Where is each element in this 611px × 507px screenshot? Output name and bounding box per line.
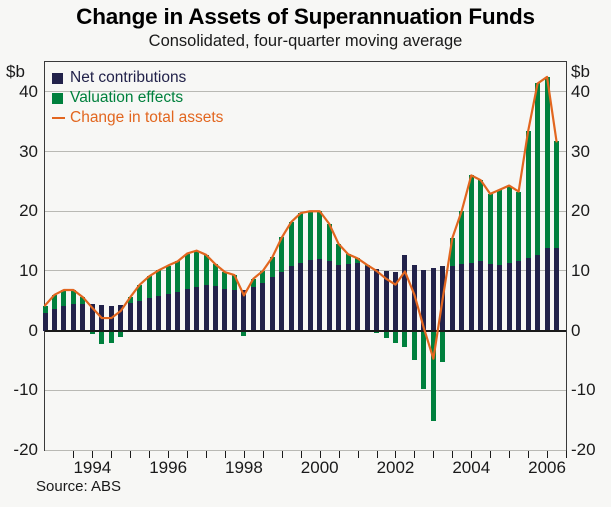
bar-valuation-effects	[327, 224, 332, 262]
bar-net-contributions	[554, 248, 559, 330]
bar-net-contributions	[355, 263, 360, 330]
bar-valuation-effects	[516, 192, 521, 261]
bar-valuation-effects	[440, 331, 445, 363]
bar-valuation-effects	[52, 295, 57, 309]
bar-valuation-effects	[185, 254, 190, 290]
x-axis-tick	[282, 451, 283, 458]
bar-valuation-effects	[488, 194, 493, 264]
legend-item-change-total-assets: Change in total assets	[52, 108, 223, 128]
x-axis-tick-label: 2000	[301, 458, 339, 478]
legend-label-net-contributions: Net contributions	[70, 68, 186, 88]
bar-net-contributions	[137, 301, 142, 331]
y-axis-unit-right: $b	[571, 62, 590, 82]
y-axis-tick-label: 40	[0, 83, 38, 100]
bar-valuation-effects	[204, 255, 209, 285]
bar-valuation-effects	[526, 131, 531, 258]
x-axis-tick	[92, 451, 93, 458]
bar-net-contributions	[61, 306, 66, 330]
bar-net-contributions	[535, 255, 540, 330]
bar-valuation-effects	[308, 211, 313, 260]
bar-net-contributions	[450, 266, 455, 331]
x-axis-tick	[206, 451, 207, 458]
bar-net-contributions	[374, 269, 379, 331]
bar-valuation-effects	[156, 270, 161, 296]
legend-dash-change-total-assets	[52, 117, 65, 120]
bar-net-contributions	[327, 261, 332, 330]
bar-net-contributions	[128, 303, 133, 330]
bar-valuation-effects	[507, 186, 512, 264]
y-axis-tick-label: -10	[0, 381, 38, 398]
bar-valuation-effects	[298, 213, 303, 263]
x-axis-tick	[452, 451, 453, 458]
bar-net-contributions	[43, 313, 48, 331]
bar-net-contributions	[393, 272, 398, 330]
legend-label-change-total-assets: Change in total assets	[70, 108, 223, 128]
x-axis-tick	[339, 451, 340, 458]
bar-valuation-effects	[336, 244, 341, 265]
source-note: Source: ABS	[36, 478, 121, 495]
bar-net-contributions	[52, 309, 57, 330]
x-axis-tick	[414, 451, 415, 458]
bar-net-contributions	[317, 259, 322, 331]
bar-net-contributions	[298, 263, 303, 331]
bar-net-contributions	[279, 272, 284, 331]
x-axis-tick-label: 1994	[73, 458, 111, 478]
bar-net-contributions	[90, 304, 95, 330]
bar-valuation-effects	[431, 331, 436, 422]
gridline	[45, 450, 566, 451]
bar-valuation-effects	[554, 141, 559, 248]
y-axis-tick-label: 10	[0, 262, 38, 279]
x-axis-tick-label: 2006	[528, 458, 566, 478]
bar-valuation-effects	[355, 258, 360, 263]
gridline	[45, 151, 566, 152]
bar-net-contributions	[469, 263, 474, 330]
x-axis-tick	[433, 451, 434, 458]
bar-net-contributions	[99, 305, 104, 331]
x-axis-tick	[320, 451, 321, 458]
y-axis-tick-label: 30	[0, 143, 38, 160]
bar-net-contributions	[232, 290, 237, 331]
x-axis-tick-label: 2004	[452, 458, 490, 478]
bar-valuation-effects	[61, 290, 66, 306]
bar-valuation-effects	[346, 254, 351, 264]
x-axis-tick	[130, 451, 131, 458]
bar-valuation-effects	[535, 83, 540, 255]
bar-net-contributions	[80, 304, 85, 331]
x-axis-tick	[73, 451, 74, 458]
bar-net-contributions	[260, 283, 265, 331]
x-axis-tick	[509, 451, 510, 458]
bar-valuation-effects	[459, 211, 464, 265]
chart-subtitle: Consolidated, four-quarter moving averag…	[0, 32, 611, 51]
bar-valuation-effects	[213, 264, 218, 286]
x-axis-tick-label: 1996	[149, 458, 187, 478]
x-axis-tick	[547, 451, 548, 458]
bar-net-contributions	[459, 264, 464, 330]
bar-valuation-effects	[166, 266, 171, 295]
bar-net-contributions	[308, 260, 313, 330]
bar-net-contributions	[270, 277, 275, 330]
bar-net-contributions	[213, 286, 218, 330]
bar-net-contributions	[251, 287, 256, 331]
bar-valuation-effects	[71, 290, 76, 304]
bar-net-contributions	[147, 298, 152, 330]
x-axis-tick	[490, 451, 491, 458]
bar-net-contributions	[166, 294, 171, 330]
legend-label-valuation-effects: Valuation effects	[70, 88, 183, 108]
bar-valuation-effects	[137, 285, 142, 301]
bar-net-contributions	[440, 266, 445, 330]
x-axis-tick-label: 2002	[377, 458, 415, 478]
y-axis-tick-label: -20	[571, 441, 596, 458]
bar-net-contributions	[488, 264, 493, 331]
bar-net-contributions	[421, 270, 426, 330]
legend-item-valuation-effects: Valuation effects	[52, 88, 223, 108]
x-axis-tick-label: 1998	[225, 458, 263, 478]
bar-valuation-effects	[412, 331, 417, 361]
bar-net-contributions	[497, 265, 502, 331]
bar-net-contributions	[431, 268, 436, 331]
bar-net-contributions	[402, 255, 407, 331]
gridline	[45, 390, 566, 391]
y-axis-tick-label: 20	[571, 202, 590, 219]
y-axis-tick-label: -10	[571, 381, 596, 398]
bar-valuation-effects	[402, 331, 407, 348]
y-axis-tick-label: 40	[571, 83, 590, 100]
bar-valuation-effects	[421, 331, 426, 389]
bar-valuation-effects	[450, 238, 455, 265]
chart-legend: Net contributions Valuation effects Chan…	[52, 68, 223, 128]
bar-net-contributions	[336, 265, 341, 331]
bar-net-contributions	[241, 290, 246, 331]
bar-valuation-effects	[80, 297, 85, 304]
bar-net-contributions	[516, 261, 521, 331]
x-axis-tick	[377, 451, 378, 458]
bar-net-contributions	[346, 264, 351, 331]
zero-axis-line	[45, 330, 566, 332]
bar-net-contributions	[118, 305, 123, 331]
x-axis-tick	[528, 451, 529, 458]
bar-net-contributions	[204, 285, 209, 330]
bar-valuation-effects	[545, 77, 550, 248]
y-axis-tick-label: 10	[571, 262, 590, 279]
bar-net-contributions	[109, 306, 114, 331]
bar-net-contributions	[412, 265, 417, 331]
x-axis-tick	[187, 451, 188, 458]
page-title: Change in Assets of Superannuation Funds	[0, 4, 611, 30]
y-axis-tick-label: 20	[0, 202, 38, 219]
bar-net-contributions	[289, 266, 294, 330]
bar-valuation-effects	[251, 279, 256, 287]
bar-valuation-effects	[222, 272, 227, 289]
chart-root: Change in Assets of Superannuation Funds…	[0, 0, 611, 507]
bar-valuation-effects	[270, 257, 275, 277]
bar-valuation-effects	[128, 297, 133, 303]
bar-valuation-effects	[175, 261, 180, 291]
bar-net-contributions	[507, 263, 512, 330]
bar-valuation-effects	[317, 211, 322, 259]
bar-valuation-effects	[232, 275, 237, 290]
x-axis-tick	[471, 451, 472, 458]
bar-valuation-effects	[43, 306, 48, 313]
bar-valuation-effects	[109, 331, 114, 344]
bar-valuation-effects	[194, 251, 199, 287]
y-axis-tick-label: 0	[0, 322, 38, 339]
y-axis-tick-label: 30	[571, 143, 590, 160]
y-axis-tick-label: -20	[0, 441, 38, 458]
bar-valuation-effects	[260, 271, 265, 283]
x-axis-tick	[301, 451, 302, 458]
bar-net-contributions	[185, 289, 190, 330]
bar-valuation-effects	[384, 331, 389, 339]
y-axis-unit-left: $b	[6, 62, 25, 82]
x-axis-tick	[395, 451, 396, 458]
x-axis-tick	[244, 451, 245, 458]
bar-valuation-effects	[365, 265, 370, 266]
bar-net-contributions	[156, 296, 161, 331]
x-axis-tick	[566, 451, 567, 458]
legend-item-net-contributions: Net contributions	[52, 68, 223, 88]
bar-net-contributions	[175, 292, 180, 331]
bar-valuation-effects	[478, 180, 483, 261]
bar-valuation-effects	[497, 190, 502, 265]
x-axis-tick	[225, 451, 226, 458]
bar-valuation-effects	[99, 331, 104, 344]
legend-swatch-net-contributions	[52, 73, 63, 84]
bar-net-contributions	[71, 304, 76, 330]
bar-net-contributions	[478, 261, 483, 330]
bar-valuation-effects	[147, 276, 152, 298]
x-axis-tick	[149, 451, 150, 458]
y-axis-tick-label: 0	[571, 322, 580, 339]
x-axis-tick	[168, 451, 169, 458]
bar-valuation-effects	[289, 222, 294, 266]
bar-net-contributions	[365, 266, 370, 330]
x-axis-tick	[111, 451, 112, 458]
bar-net-contributions	[222, 289, 227, 331]
x-axis-tick	[358, 451, 359, 458]
x-axis-tick	[263, 451, 264, 458]
bar-net-contributions	[526, 258, 531, 331]
legend-swatch-valuation-effects	[52, 93, 63, 104]
bar-net-contributions	[384, 271, 389, 331]
bar-net-contributions	[545, 248, 550, 330]
bar-net-contributions	[194, 287, 199, 331]
bar-valuation-effects	[393, 331, 398, 344]
bar-valuation-effects	[279, 237, 284, 271]
bar-valuation-effects	[469, 175, 474, 263]
